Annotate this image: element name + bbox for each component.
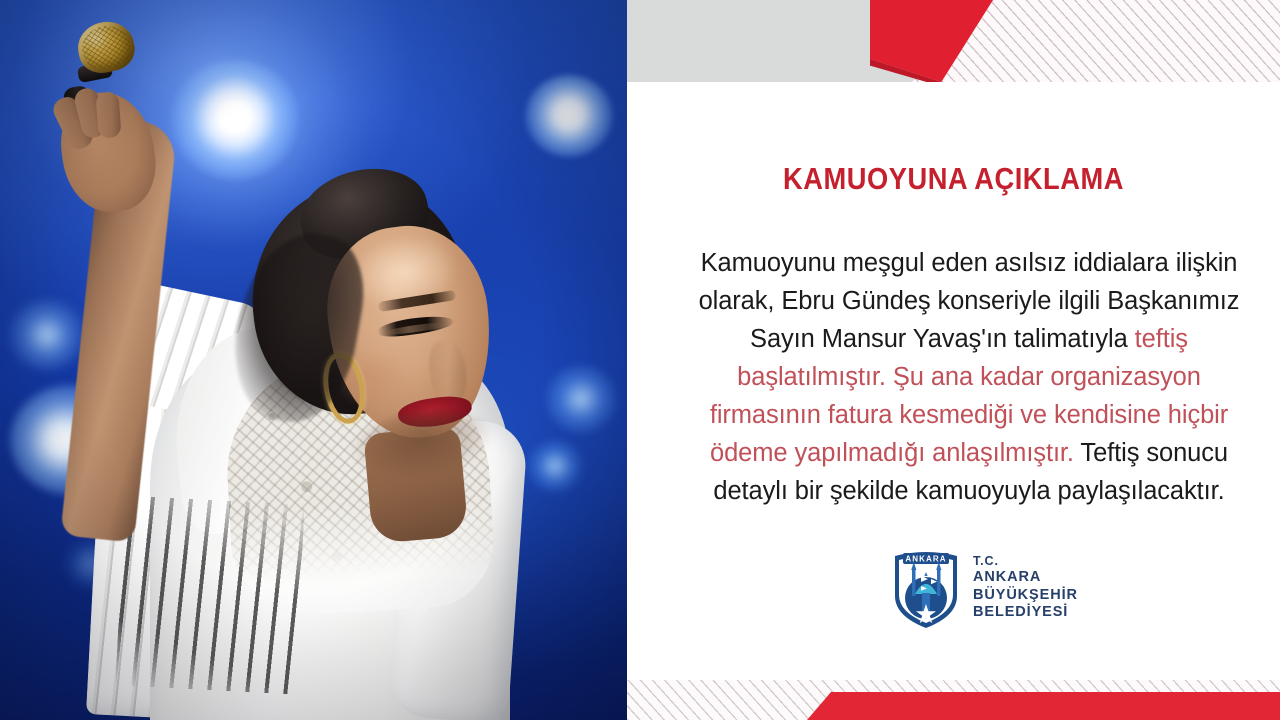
svg-text:ANKARA: ANKARA: [905, 555, 946, 564]
top-decorative-band: [627, 0, 1280, 82]
logo-line-belediyesi: BELEDİYESİ: [973, 604, 1078, 622]
page-title: KAMUOYUNA AÇIKLAMA: [666, 161, 1241, 197]
logo-text-block: T.C. ANKARA BÜYÜKŞEHİR BELEDİYESİ: [973, 554, 1078, 622]
announcement-body-text: Kamuoyunu meşgul eden asılsız iddialara …: [689, 244, 1249, 510]
logo-line-ankara: ANKARA: [973, 569, 1078, 587]
logo-line-tc: T.C.: [973, 554, 1078, 569]
top-band-gray-block: [627, 0, 912, 82]
bottom-band-red-bar: [807, 692, 1280, 720]
bottom-decorative-band: [627, 680, 1280, 720]
municipality-logo: ANKARA T.C. ANKARA BÜYÜKŞEHİR BELEDİYESİ: [891, 546, 1078, 630]
announcement-graphic: KAMUOYUNA AÇIKLAMA Kamuoyunu meşgul eden…: [0, 0, 1280, 720]
ankara-shield-emblem-icon: ANKARA: [891, 546, 961, 630]
announcement-panel: KAMUOYUNA AÇIKLAMA Kamuoyunu meşgul eden…: [627, 0, 1280, 720]
concert-photo: [0, 0, 627, 720]
logo-line-buyuksehir: BÜYÜKŞEHİR: [973, 587, 1078, 605]
photo-vignette: [0, 0, 627, 720]
